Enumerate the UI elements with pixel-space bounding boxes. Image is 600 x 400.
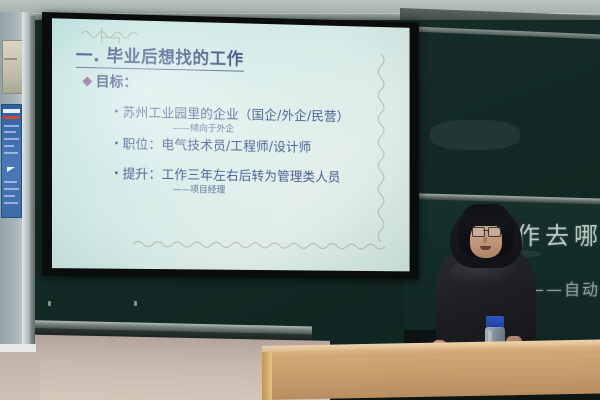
slide-decoration-bottom-icon [131, 237, 392, 254]
poster-text-row [4, 195, 15, 197]
glasses-lens-left [472, 227, 485, 237]
glasses-lens-right [488, 227, 501, 237]
chalk-mark [134, 301, 137, 306]
slide-item-2: 职位：电气技术员/工程师/设计师 [113, 133, 311, 155]
diamond-bullet-icon [82, 76, 92, 86]
projection-screen: 一. 毕业后想找的工作 目标： 苏州工业园里的企业（国企/外企/民营） ——倾向… [42, 12, 419, 279]
slide-title: 一. 毕业后想找的工作 [76, 41, 244, 72]
poster-text-row [4, 125, 19, 127]
poster-text-row [4, 131, 16, 133]
wall-mounted-box [2, 40, 23, 94]
poster-accent-bar [3, 116, 19, 119]
slide-item-1-note: ——倾向于外企 [173, 121, 234, 135]
wall-box-slit [4, 58, 17, 60]
poster-triangle-icon [7, 167, 15, 172]
floor-strip [0, 352, 40, 400]
wall-notice-poster [1, 104, 22, 218]
presenter-nose [483, 237, 487, 243]
poster-text-row [4, 202, 18, 204]
poster-header-bar [3, 109, 20, 113]
door-frame-inner [30, 16, 35, 352]
poster-text-row [4, 181, 17, 183]
podium-left-edge [262, 352, 272, 400]
chalk-mark [48, 301, 51, 306]
glasses-icon [472, 227, 500, 235]
poster-text-row [4, 145, 14, 147]
presenter-bangs [462, 204, 510, 226]
classroom-scene: 作去哪 ——自动化 一. 毕业后想找的工作 目 [0, 0, 600, 400]
poster-text-row [4, 152, 18, 154]
poster-text-row [4, 188, 19, 190]
poster-text-row [4, 138, 19, 140]
projected-slide: 一. 毕业后想找的工作 目标： 苏州工业园里的企业（国企/外企/民营） ——倾向… [52, 18, 410, 271]
slide-bullet-level1-label: 目标： [96, 71, 137, 92]
glasses-bridge [483, 230, 488, 231]
slide-bullet-level1: 目标： [84, 71, 137, 92]
slide-decoration-right-icon [373, 52, 388, 248]
slide-item-3: 提升：工作三年左右后转为管理类人员 [113, 163, 340, 185]
slide-item-3-note: ——项目经理 [173, 182, 226, 196]
